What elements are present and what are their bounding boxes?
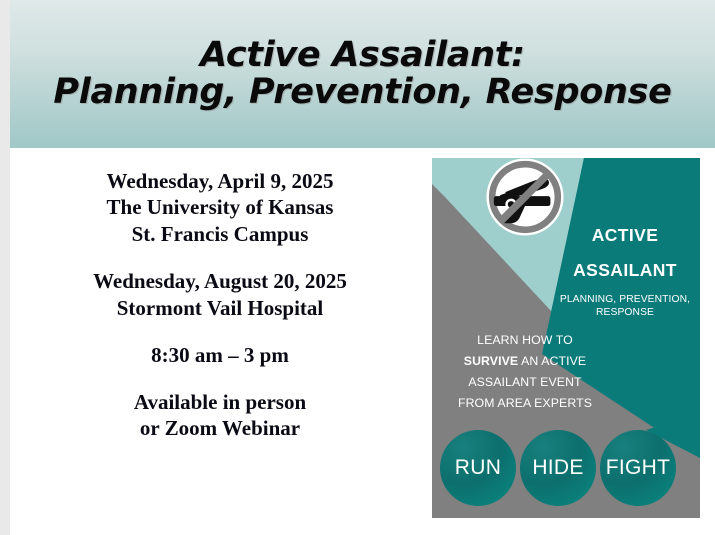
poster-learn-line-1: LEARN HOW TO (436, 330, 614, 351)
spacer (18, 247, 422, 268)
action-circle-fight: FIGHT (600, 430, 676, 506)
attendance-options: Available in person or Zoom Webinar (18, 389, 422, 442)
event-one-location: St. Francis Campus (18, 221, 422, 247)
poster-action-circles: RUN HIDE FIGHT (438, 430, 696, 506)
action-circle-run: RUN (440, 430, 516, 506)
event-details: Wednesday, April 9, 2025 The University … (18, 168, 422, 442)
title-banner: Active Assailant: Planning, Prevention, … (10, 0, 715, 148)
poster-headline-subtitle: PLANNING, PREVENTION, RESPONSE (552, 293, 698, 321)
event-one-venue: The University of Kansas (18, 194, 422, 220)
page-title-line-1: Active Assailant: (200, 37, 525, 74)
active-assailant-poster: ACTIVE ASSAILANT PLANNING, PREVENTION, R… (432, 158, 700, 518)
poster-headline-assailant: ASSAILANT (552, 261, 698, 280)
event-one: Wednesday, April 9, 2025 The University … (18, 168, 422, 247)
poster-learn-survive: SURVIVE (464, 354, 518, 368)
poster-learn-block: LEARN HOW TO SURVIVE AN ACTIVE ASSAILANT… (436, 330, 614, 415)
event-time: 8:30 am – 3 pm (18, 342, 422, 368)
spacer (18, 369, 422, 389)
attendance-line-1: Available in person (18, 389, 422, 415)
slide-canvas: Active Assailant: Planning, Prevention, … (0, 0, 715, 535)
page-title-line-2: Planning, Prevention, Response (53, 74, 671, 111)
poster-learn-line-4: FROM AREA EXPERTS (436, 393, 614, 414)
poster-headline-active: ACTIVE (552, 226, 698, 245)
attendance-line-2: or Zoom Webinar (18, 415, 422, 441)
poster-learn-line-3: ASSAILANT EVENT (436, 372, 614, 393)
event-two-venue: Stormont Vail Hospital (18, 295, 422, 321)
event-two-date: Wednesday, August 20, 2025 (18, 268, 422, 294)
poster-headline: ACTIVE ASSAILANT PLANNING, PREVENTION, R… (552, 226, 698, 320)
event-two: Wednesday, August 20, 2025 Stormont Vail… (18, 268, 422, 321)
event-time-value: 8:30 am – 3 pm (18, 342, 422, 368)
action-circle-hide: HIDE (520, 430, 596, 506)
left-margin-rail (0, 0, 10, 535)
spacer (18, 321, 422, 342)
poster-learn-line-2: SURVIVE AN ACTIVE (436, 351, 614, 372)
poster-learn-line-2-rest: AN ACTIVE (518, 354, 586, 368)
event-one-date: Wednesday, April 9, 2025 (18, 168, 422, 194)
